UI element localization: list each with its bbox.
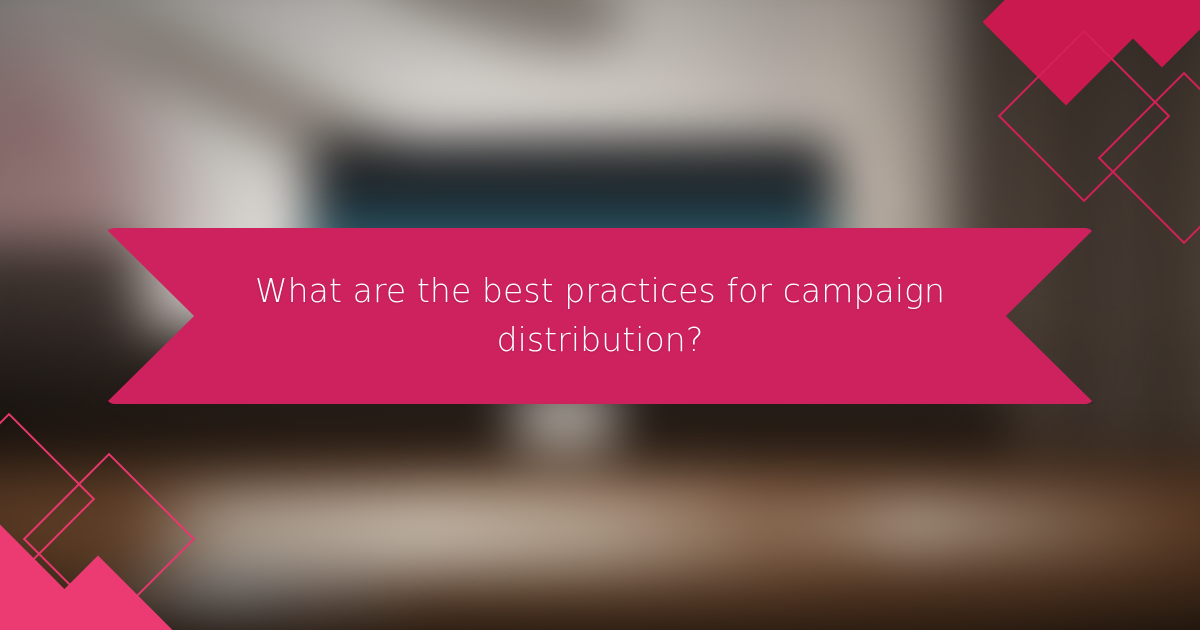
headline-ribbon: What are the best practices for campaign…	[105, 228, 1095, 404]
headline-text-block: What are the best practices for campaign…	[105, 228, 1095, 404]
headline-line-1: What are the best practices for campaign	[255, 267, 945, 316]
banner-canvas: What are the best practices for campaign…	[0, 0, 1200, 630]
headline-line-2: distribution?	[497, 316, 704, 365]
